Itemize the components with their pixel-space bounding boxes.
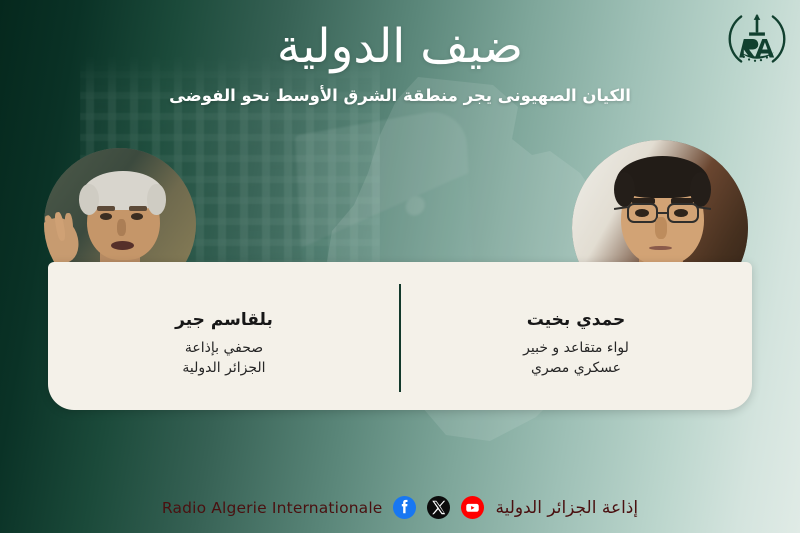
footer-latin-label: Radio Algerie Internationale	[162, 499, 383, 517]
x-twitter-icon[interactable]	[427, 496, 450, 519]
guest-right-role-line1: صحفي بإذاعة	[48, 339, 400, 359]
facebook-icon[interactable]	[393, 496, 416, 519]
footer: Radio Algerie Internationale إذاعة الجزا…	[0, 496, 800, 519]
guest-card-right: بلقاسم جير صحفي بإذاعة الجزائر الدولية	[48, 262, 400, 410]
guest-right-name: بلقاسم جير	[48, 310, 400, 330]
guests-panel: حمدي بخيت لواء متقاعد و خبير عسكري مصري …	[48, 262, 752, 410]
episode-topic: الكيان الصهيونى يجر منطقة الشرق الأوسط ن…	[0, 86, 800, 105]
guest-card-left: حمدي بخيت لواء متقاعد و خبير عسكري مصري	[400, 262, 752, 410]
footer-arabic-label: إذاعة الجزائر الدولية	[495, 498, 638, 518]
youtube-icon[interactable]	[461, 496, 484, 519]
guest-right-role: صحفي بإذاعة الجزائر الدولية	[48, 339, 400, 379]
broadcast-graphic-card: ضيف الدولية الكيان الصهيونى يجر منطقة ال…	[0, 0, 800, 533]
guest-right-role-line2: الجزائر الدولية	[48, 359, 400, 379]
show-title: ضيف الدولية	[0, 22, 800, 73]
guest-left-name: حمدي بخيت	[400, 310, 752, 330]
guest-left-role-line2: عسكري مصري	[400, 359, 752, 379]
guest-left-role: لواء متقاعد و خبير عسكري مصري	[400, 339, 752, 379]
header: ضيف الدولية الكيان الصهيونى يجر منطقة ال…	[0, 0, 800, 105]
guest-left-role-line1: لواء متقاعد و خبير	[400, 339, 752, 359]
